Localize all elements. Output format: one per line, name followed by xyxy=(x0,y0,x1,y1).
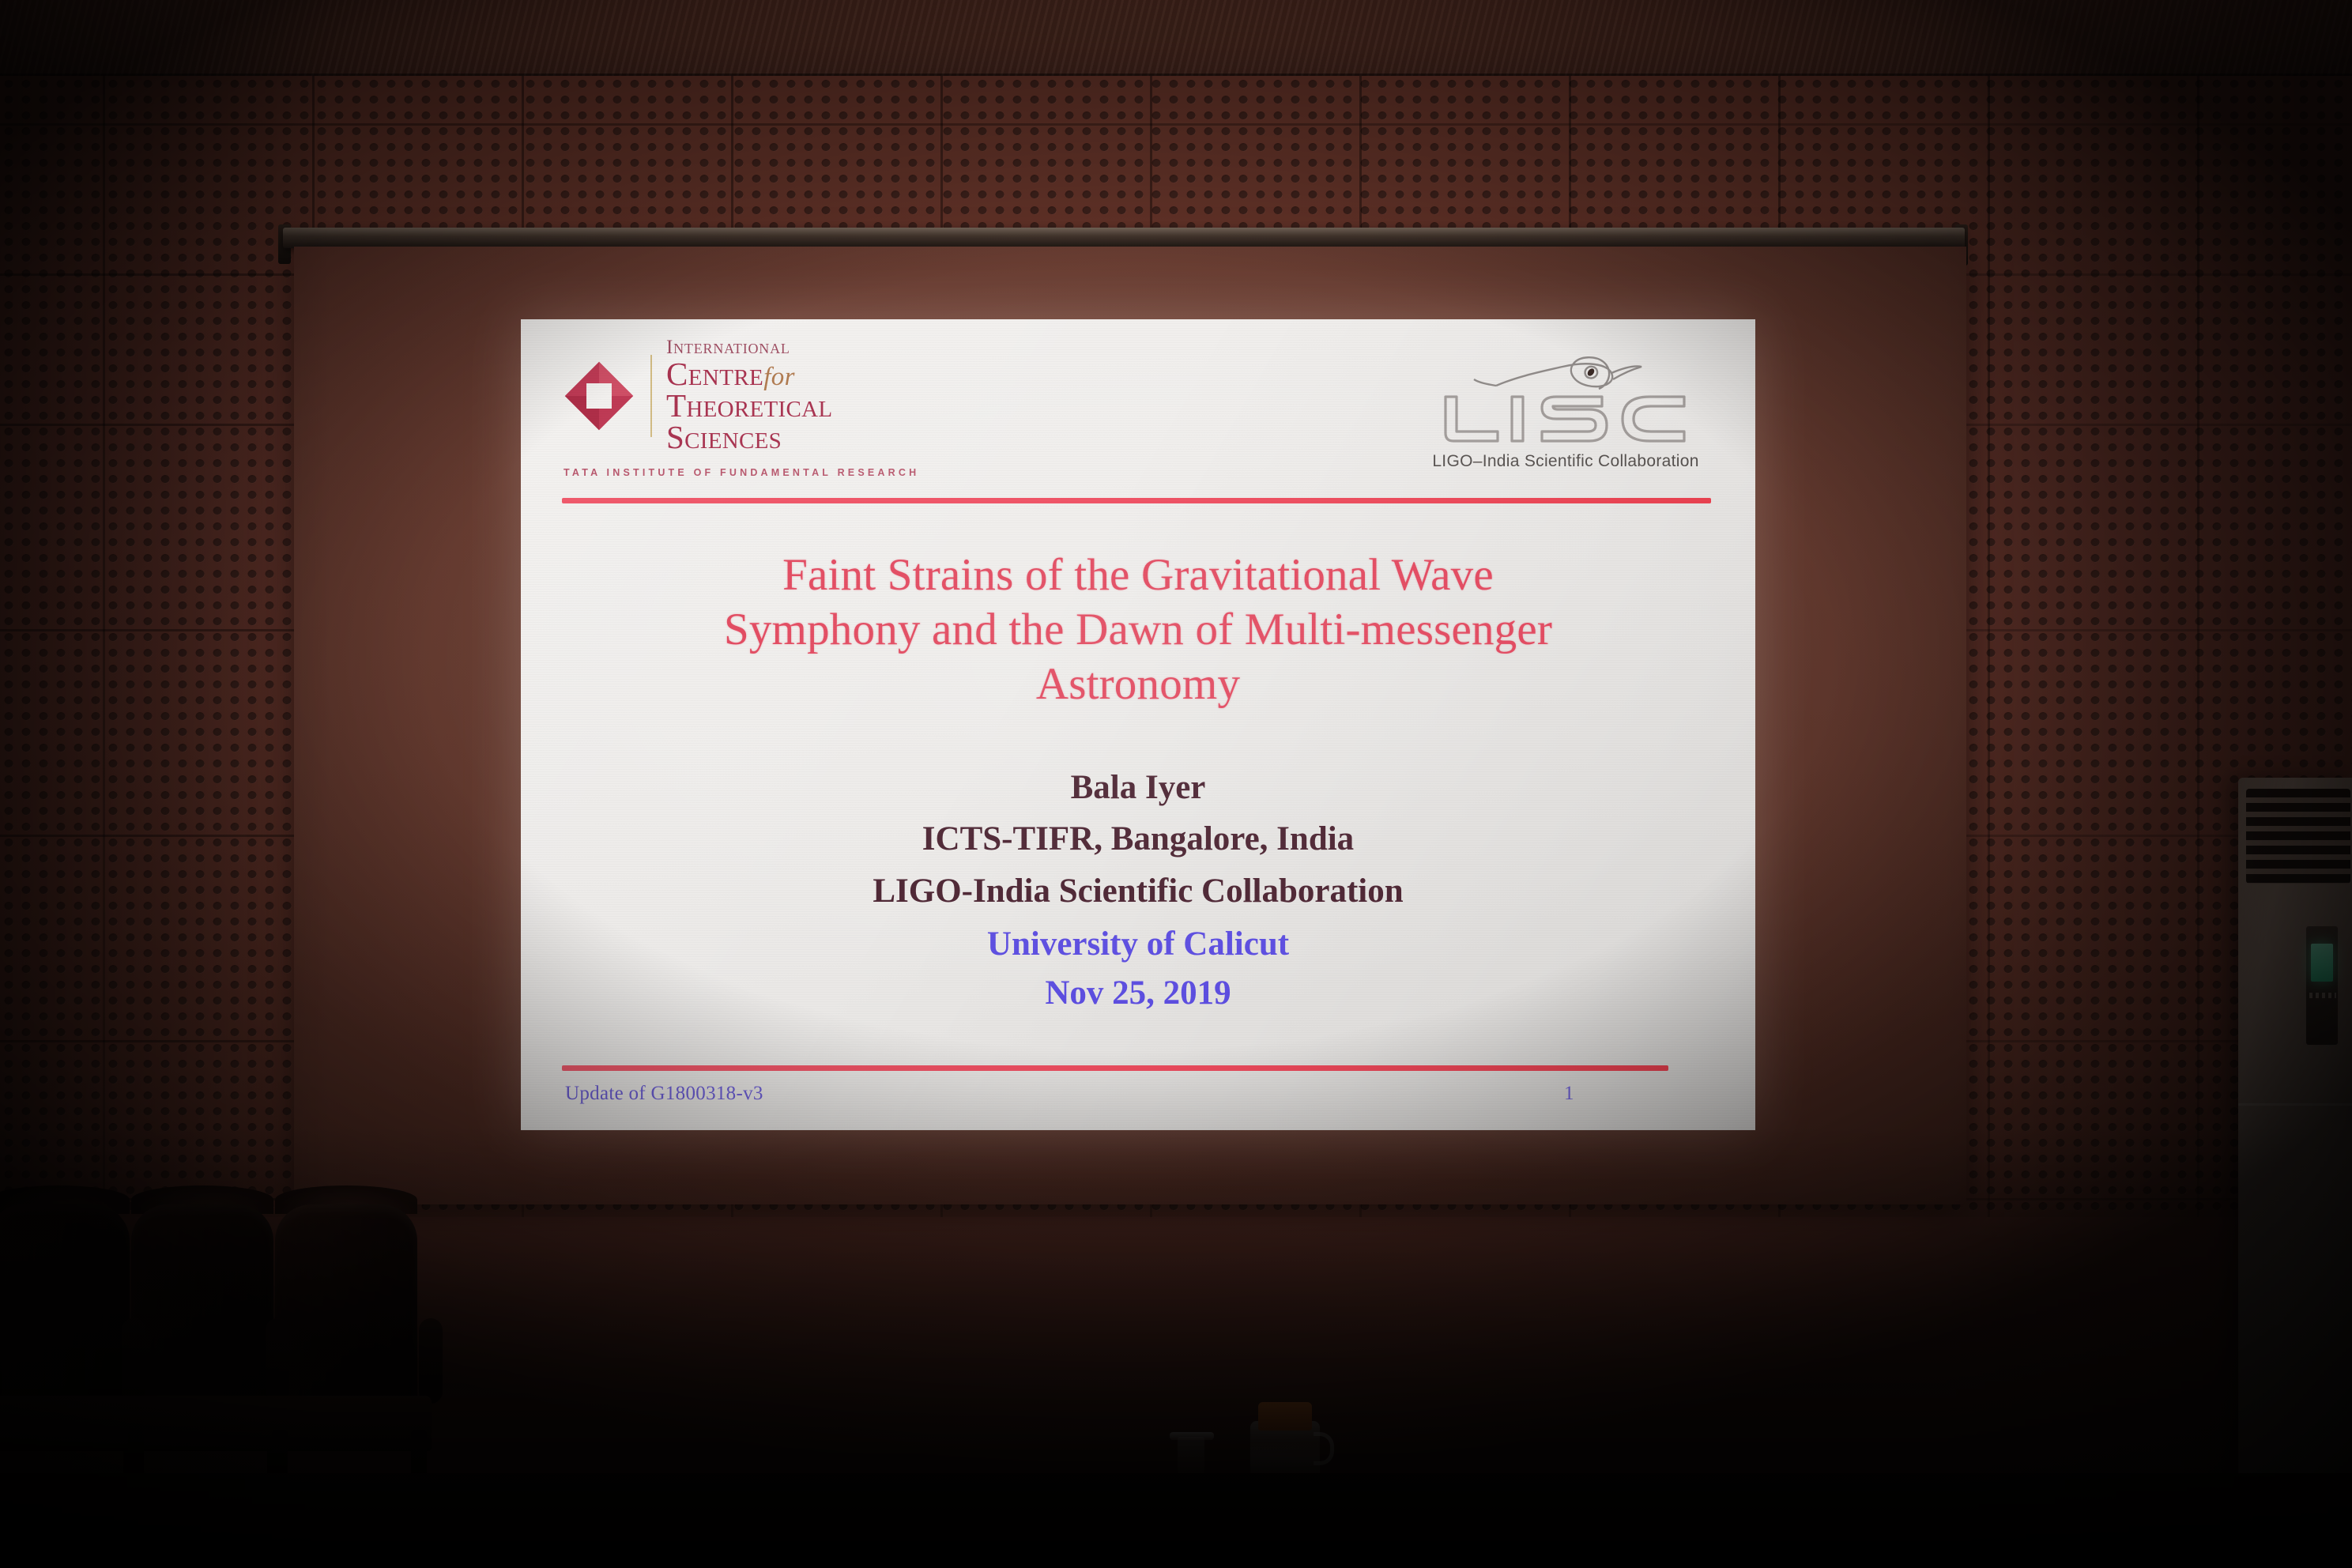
projected-slide: International Centrefor Theoretical Scie… xyxy=(521,319,1755,1130)
jug-lid xyxy=(1258,1402,1312,1430)
slide-footer-note: Update of G1800318-v3 xyxy=(565,1083,763,1105)
icts-word-theoretical: Theoretical xyxy=(666,390,832,421)
icts-word-centre-for: Centrefor xyxy=(666,358,832,390)
ac-louvers xyxy=(2246,789,2350,884)
ceiling xyxy=(0,0,2352,76)
icts-word-centre: Centre xyxy=(666,356,763,392)
icts-logo-divider xyxy=(650,355,652,437)
ac-panel-seam xyxy=(2238,1103,2352,1106)
stage-floor xyxy=(0,1473,2352,1568)
author-name: Bala Iyer xyxy=(584,762,1692,813)
author-collaboration: LIGO-India Scientific Collaboration xyxy=(584,865,1692,917)
icts-logo: International Centrefor Theoretical Scie… xyxy=(562,338,919,478)
venue-name: University of Calicut xyxy=(584,920,1692,969)
ac-display-screen xyxy=(2311,944,2333,982)
slide-page-number: 1 xyxy=(1564,1083,1574,1105)
slide-top-rule xyxy=(562,498,1711,503)
ac-buttons[interactable] xyxy=(2309,993,2336,998)
icts-tagline: TATA INSTITUTE OF FUNDAMENTAL RESEARCH xyxy=(563,467,919,478)
title-line-2: Symphony and the Dawn of Multi-messenger xyxy=(584,603,1692,658)
icts-word-sciences: Sciences xyxy=(666,421,832,453)
air-conditioner-unit xyxy=(2238,778,2352,1568)
icts-diamond-icon xyxy=(562,359,636,433)
title-line-3: Astronomy xyxy=(584,658,1692,712)
lisc-logo: LIGO–India Scientific Collaboration xyxy=(1423,340,1708,471)
author-block: Bala Iyer ICTS-TIFR, Bangalore, India LI… xyxy=(584,762,1692,917)
projection-screen-roller-bar xyxy=(283,228,1965,248)
venue-date: Nov 25, 2019 xyxy=(584,969,1692,1018)
slide-title: Faint Strains of the Gravitational Wave … xyxy=(584,548,1692,712)
lisc-spiral-wordmark-icon xyxy=(1423,340,1708,457)
auditorium-room: International Centrefor Theoretical Scie… xyxy=(0,0,2352,1568)
lisc-subtitle: LIGO–India Scientific Collaboration xyxy=(1432,452,1698,471)
author-affiliation: ICTS-TIFR, Bangalore, India xyxy=(584,813,1692,865)
title-line-1: Faint Strains of the Gravitational Wave xyxy=(584,548,1692,603)
slide-header: International Centrefor Theoretical Scie… xyxy=(521,319,1755,492)
slide-bottom-rule xyxy=(562,1065,1668,1071)
venue-block: University of Calicut Nov 25, 2019 xyxy=(584,920,1692,1019)
